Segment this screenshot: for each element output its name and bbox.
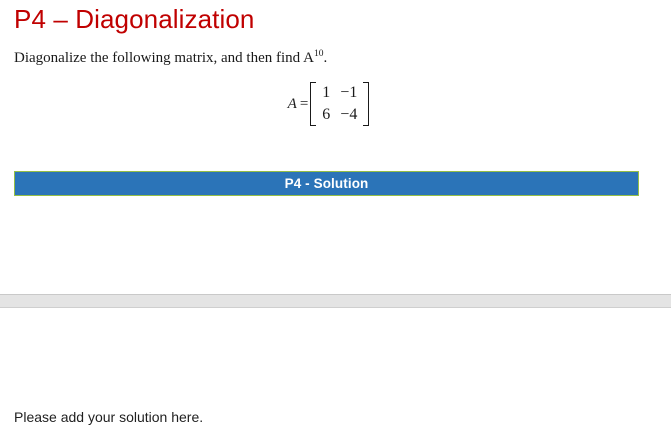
matrix-right-bracket [363, 82, 369, 126]
page-title: P4 – Diagonalization [14, 2, 255, 36]
solution-work-area-upper[interactable] [0, 200, 671, 292]
document-page: P4 – Diagonalization Diagonalize the fol… [0, 0, 671, 445]
problem-statement-period: . [323, 50, 327, 66]
solution-banner-label: P4 - Solution [285, 176, 369, 191]
matrix-cell-r1c1: −4 [336, 104, 361, 126]
problem-statement-text: Diagonalize the following matrix, and th… [14, 50, 314, 66]
matrix-cells: 1 −1 6 −4 [316, 82, 363, 126]
matrix-display: 1 −1 6 −4 [310, 82, 369, 126]
matrix-cell-r0c0: 1 [318, 82, 336, 104]
equals-sign: = [300, 96, 310, 113]
matrix-cell-r0c1: −1 [336, 82, 361, 104]
matrix-equation: A = 1 −1 6 −4 [0, 82, 671, 126]
solution-work-area-lower[interactable] [0, 310, 671, 404]
solution-banner: P4 - Solution [14, 171, 639, 196]
page-break-separator [0, 294, 671, 308]
problem-statement-exponent: 10 [314, 49, 324, 59]
matrix-cell-r1c0: 6 [318, 104, 336, 126]
matrix-variable-label: A [288, 96, 300, 113]
problem-statement: Diagonalize the following matrix, and th… [14, 48, 327, 68]
answer-placeholder-note: Please add your solution here. [14, 408, 203, 427]
